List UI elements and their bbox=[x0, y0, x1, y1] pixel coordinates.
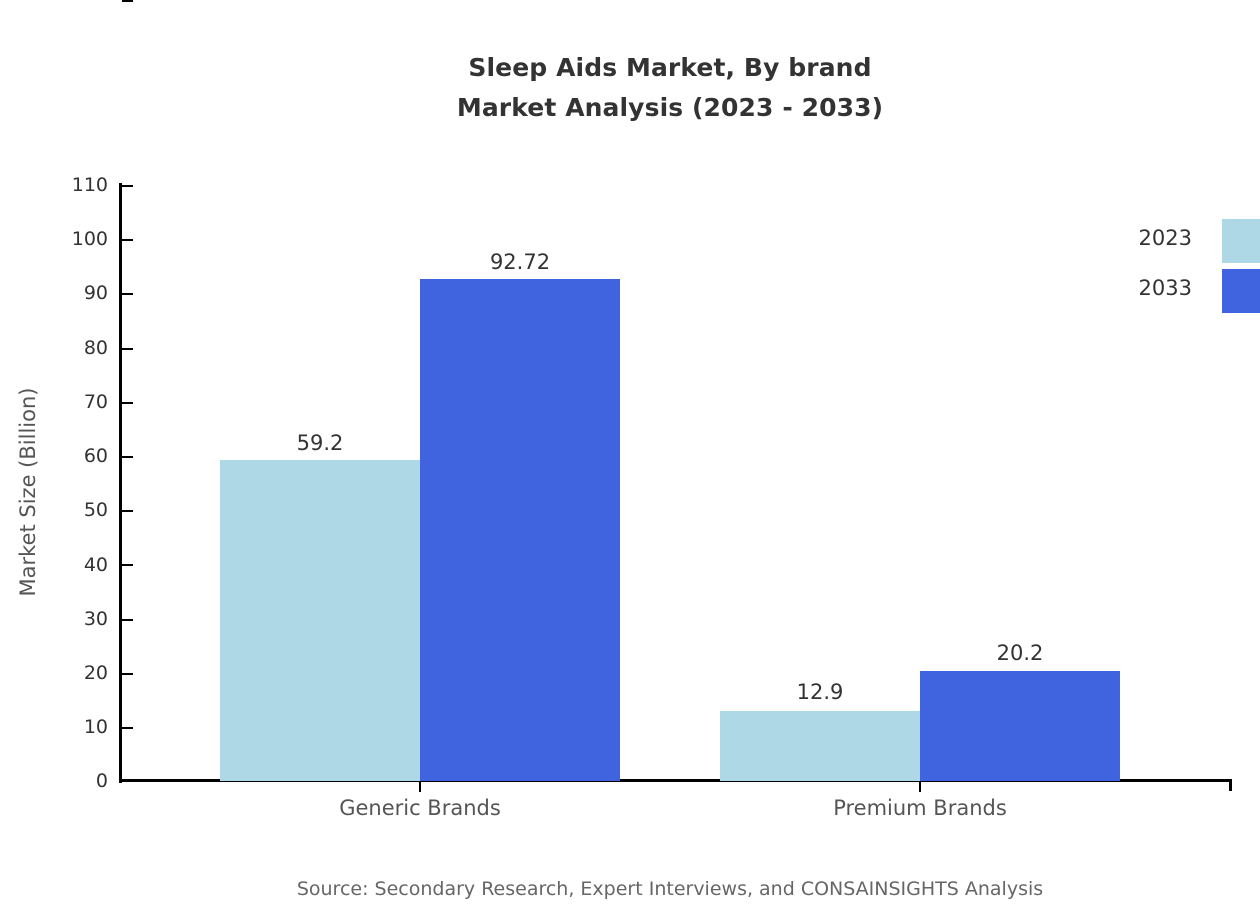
y-tick-label-20: 20 bbox=[42, 664, 108, 683]
bar-value-label-premium-2033: 20.2 bbox=[940, 642, 1100, 664]
y-axis-title: Market Size (Billion) bbox=[16, 252, 40, 732]
bar-premium-brands-2023[interactable] bbox=[720, 711, 920, 781]
source-note: Source: Secondary Research, Expert Inter… bbox=[0, 876, 1260, 902]
bar-premium-brands-2033[interactable] bbox=[920, 671, 1120, 781]
chart-legend: 2023 2033 bbox=[1100, 219, 1260, 319]
y-tick-label-100: 100 bbox=[42, 230, 108, 249]
legend-label-2023: 2023 bbox=[1100, 226, 1192, 250]
bar-generic-brands-2023[interactable] bbox=[220, 460, 420, 781]
chart-title: Sleep Aids Market, By brand Market Analy… bbox=[0, 48, 1260, 128]
y-tick-label-90: 90 bbox=[42, 284, 108, 303]
legend-swatch-2023 bbox=[1222, 219, 1260, 263]
y-tick-label-10: 10 bbox=[42, 718, 108, 737]
y-tick-label-110: 110 bbox=[42, 176, 108, 195]
chart-title-line-2: Market Analysis (2023 - 2033) bbox=[0, 88, 1260, 128]
legend-swatch-2033 bbox=[1222, 269, 1260, 313]
plot-area bbox=[122, 185, 1232, 781]
y-tick-label-80: 80 bbox=[42, 339, 108, 358]
legend-item-2033[interactable]: 2033 bbox=[1100, 269, 1260, 319]
y-tick-label-40: 40 bbox=[42, 556, 108, 575]
chart-title-line-1: Sleep Aids Market, By brand bbox=[0, 48, 1260, 88]
y-tick-label-70: 70 bbox=[42, 393, 108, 412]
x-tick-generic-brands bbox=[419, 781, 421, 792]
legend-label-2033: 2033 bbox=[1100, 276, 1192, 300]
bar-value-label-generic-2033: 92.72 bbox=[440, 251, 600, 273]
bar-generic-brands-2033[interactable] bbox=[420, 279, 620, 781]
y-tick-label-50: 50 bbox=[42, 501, 108, 520]
bar-value-label-premium-2023: 12.9 bbox=[740, 681, 900, 703]
x-tick-premium-brands bbox=[919, 781, 921, 792]
y-tick-label-30: 30 bbox=[42, 610, 108, 629]
bar-value-label-generic-2023: 59.2 bbox=[240, 432, 400, 454]
y-tick-80-dup bbox=[122, 0, 133, 2]
legend-item-2023[interactable]: 2023 bbox=[1100, 219, 1260, 269]
x-tick-label-generic-brands: Generic Brands bbox=[250, 793, 590, 823]
x-tick-label-premium-brands: Premium Brands bbox=[750, 793, 1090, 823]
y-tick-label-60: 60 bbox=[42, 447, 108, 466]
y-tick-label-0: 0 bbox=[42, 772, 108, 791]
